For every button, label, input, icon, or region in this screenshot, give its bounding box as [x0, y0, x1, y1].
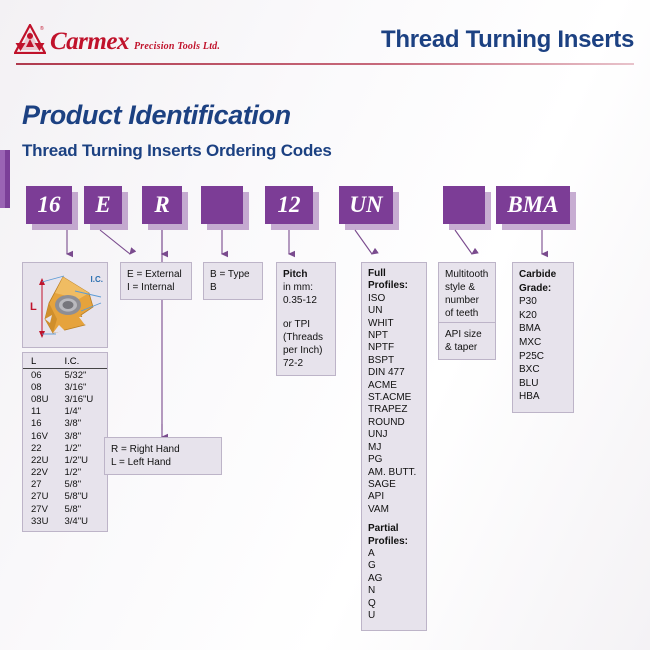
api-line2: & taper: [445, 341, 489, 354]
pitch-line4: (Threads: [283, 331, 329, 344]
cell-ic: 1/2": [59, 442, 108, 454]
pitch-line6: 72-2: [283, 357, 329, 370]
list-item: MJ: [368, 442, 420, 454]
list-item: BMA: [519, 322, 567, 336]
cell-ic: 5/8": [59, 503, 108, 515]
cell-l: 06: [23, 369, 59, 382]
cell-l: 22V: [23, 467, 59, 479]
dimension-l-label: L: [30, 301, 37, 313]
list-item: AM. BUTT.: [368, 467, 420, 479]
lic-table: L I.C. 065/32"083/16"08U3/16"U111/4"163/…: [22, 352, 108, 532]
cell-ic: 1/2": [59, 467, 108, 479]
cell-ic: 3/8": [59, 430, 108, 442]
pitch-spacer: [283, 307, 329, 318]
multitooth-line1: Multitooth: [445, 268, 489, 281]
table-row: 083/16": [23, 381, 107, 393]
cell-l: 08: [23, 381, 59, 393]
cell-ic: 1/2"U: [59, 454, 108, 466]
full-profiles-list: ISOUNWHITNPTNPTFBSPTDIN 477ACMEST.ACMETR…: [368, 293, 420, 516]
table-row: 22U1/2"U: [23, 454, 107, 466]
list-item: SAGE: [368, 479, 420, 491]
list-item: A: [368, 548, 420, 560]
callout-profiles: Full Profiles: ISOUNWHITNPTNPTFBSPTDIN 4…: [361, 262, 427, 631]
table-row: 221/2": [23, 442, 107, 454]
cell-ic: 1/4": [59, 406, 108, 418]
list-item: NPTF: [368, 342, 420, 354]
partial-profiles-title-2: Profiles:: [368, 536, 420, 548]
table-row: 33U3/4"U: [23, 515, 107, 527]
list-item: ST.ACME: [368, 392, 420, 404]
list-item: P30: [519, 295, 567, 309]
list-item: N: [368, 585, 420, 597]
list-item: UN: [368, 305, 420, 317]
list-item: ACME: [368, 380, 420, 392]
callout-multitooth: Multitooth style & number of teeth: [438, 262, 496, 326]
pitch-title: Pitch: [283, 268, 329, 281]
code-box-type[interactable]: R: [142, 186, 182, 224]
pitch-line3: or TPI: [283, 318, 329, 331]
hand-line2: L = Left Hand: [111, 456, 215, 469]
list-item: PG: [368, 454, 420, 466]
list-item: UNJ: [368, 429, 420, 441]
table-row: 22V1/2": [23, 467, 107, 479]
pitch-line2: 0.35-12: [283, 294, 329, 307]
list-item: BLU: [519, 377, 567, 391]
code-box-size[interactable]: 16: [26, 186, 72, 224]
cell-l: 16V: [23, 430, 59, 442]
list-item: AG: [368, 573, 420, 585]
cell-l: 22U: [23, 454, 59, 466]
list-item: TRAPEZ: [368, 404, 420, 416]
cell-ic: 5/8"U: [59, 491, 108, 503]
carmex-logo: ® Carmex Precision Tools Ltd.: [14, 24, 220, 54]
table-row: 27V5/8": [23, 503, 107, 515]
pitch-line1: in mm:: [283, 281, 329, 294]
cell-l: 27V: [23, 503, 59, 515]
cell-l: 33U: [23, 515, 59, 527]
accent-bar-highlight: [0, 150, 5, 208]
page-header: ® Carmex Precision Tools Ltd. Thread Tur…: [0, 0, 650, 70]
cell-l: 08U: [23, 393, 59, 405]
callout-api-size: API size & taper: [438, 322, 496, 360]
list-item: ISO: [368, 293, 420, 305]
code-box-carbide-grade[interactable]: BMA: [496, 186, 570, 224]
table-row: 275/8": [23, 479, 107, 491]
list-item: Q: [368, 598, 420, 610]
list-item: K20: [519, 309, 567, 323]
table-header-row: L I.C.: [23, 356, 107, 369]
callout-external-internal: E = External I = Internal: [120, 262, 192, 300]
header-title: Thread Turning Inserts: [381, 26, 634, 54]
list-item: WHIT: [368, 318, 420, 330]
list-item: P25C: [519, 350, 567, 364]
list-item: DIN 477: [368, 367, 420, 379]
page-root: ® Carmex Precision Tools Ltd. Thread Tur…: [0, 0, 650, 650]
page-subtitle: Thread Turning Inserts Ordering Codes: [22, 141, 332, 161]
insert-figure: L I.C.: [22, 262, 108, 348]
cell-l: 11: [23, 406, 59, 418]
ext-int-line2: I = Internal: [127, 281, 185, 294]
carmex-triangle-logo: ®: [14, 24, 46, 54]
carbide-title-2: Grade:: [519, 282, 567, 296]
full-profiles-title-1: Full: [368, 268, 420, 280]
code-box-profile[interactable]: UN: [339, 186, 393, 224]
cell-ic: 3/16"U: [59, 393, 108, 405]
partial-profiles-title-1: Partial: [368, 523, 420, 535]
brand-subtitle: Precision Tools Ltd.: [134, 41, 220, 52]
page-title: Product Identification: [22, 100, 291, 131]
multitooth-line3: number: [445, 294, 489, 307]
list-item: U: [368, 610, 420, 622]
type-b-line1: B = Type B: [210, 268, 256, 294]
callout-pitch: Pitch in mm: 0.35-12 or TPI (Threads per…: [276, 262, 336, 376]
code-box-hand[interactable]: [201, 186, 243, 224]
svg-text:®: ®: [40, 25, 44, 32]
code-box-pitch[interactable]: 12: [265, 186, 313, 224]
list-item: NPT: [368, 330, 420, 342]
dimension-ic-label: I.C.: [91, 275, 103, 284]
cell-l: 16: [23, 418, 59, 430]
list-item: BSPT: [368, 355, 420, 367]
multitooth-line4: of teeth: [445, 307, 489, 320]
pitch-line5: per Inch): [283, 344, 329, 357]
cell-ic: 3/16": [59, 381, 108, 393]
cell-ic: 3/8": [59, 418, 108, 430]
code-box-multitooth[interactable]: [443, 186, 485, 224]
list-item: G: [368, 560, 420, 572]
multitooth-line2: style &: [445, 281, 489, 294]
cell-l: 27U: [23, 491, 59, 503]
header-divider: [16, 63, 634, 65]
table-row: 065/32": [23, 369, 107, 382]
table-row: 163/8": [23, 418, 107, 430]
hand-line1: R = Right Hand: [111, 443, 215, 456]
cell-l: 27: [23, 479, 59, 491]
list-item: API: [368, 491, 420, 503]
ext-int-line1: E = External: [127, 268, 185, 281]
callout-carbide-grade: Carbide Grade: P30K20BMAMXCP25CBXCBLUHBA: [512, 262, 574, 413]
table-row: 27U5/8"U: [23, 491, 107, 503]
api-line1: API size: [445, 328, 489, 341]
cell-ic: 5/8": [59, 479, 108, 491]
code-box-external-internal[interactable]: E: [84, 186, 122, 224]
callout-hand: R = Right Hand L = Left Hand: [104, 437, 222, 475]
list-item: VAM: [368, 504, 420, 516]
cell-ic: 5/32": [59, 369, 108, 382]
list-item: MXC: [519, 336, 567, 350]
col-header-ic: I.C.: [59, 356, 108, 369]
full-profiles-title-2: Profiles:: [368, 280, 420, 292]
list-item: HBA: [519, 390, 567, 404]
callout-type-b: B = Type B: [203, 262, 263, 300]
table-row: 08U3/16"U: [23, 393, 107, 405]
table-row: 16V3/8": [23, 430, 107, 442]
list-item: BXC: [519, 363, 567, 377]
table-row: 111/4": [23, 406, 107, 418]
cell-l: 22: [23, 442, 59, 454]
cell-ic: 3/4"U: [59, 515, 108, 527]
brand-name: Carmex: [50, 29, 129, 54]
carbide-title-1: Carbide: [519, 268, 567, 282]
list-item: ROUND: [368, 417, 420, 429]
carbide-grade-list: P30K20BMAMXCP25CBXCBLUHBA: [519, 295, 567, 404]
partial-profiles-list: AGAGNQU: [368, 548, 420, 622]
col-header-l: L: [23, 356, 59, 369]
